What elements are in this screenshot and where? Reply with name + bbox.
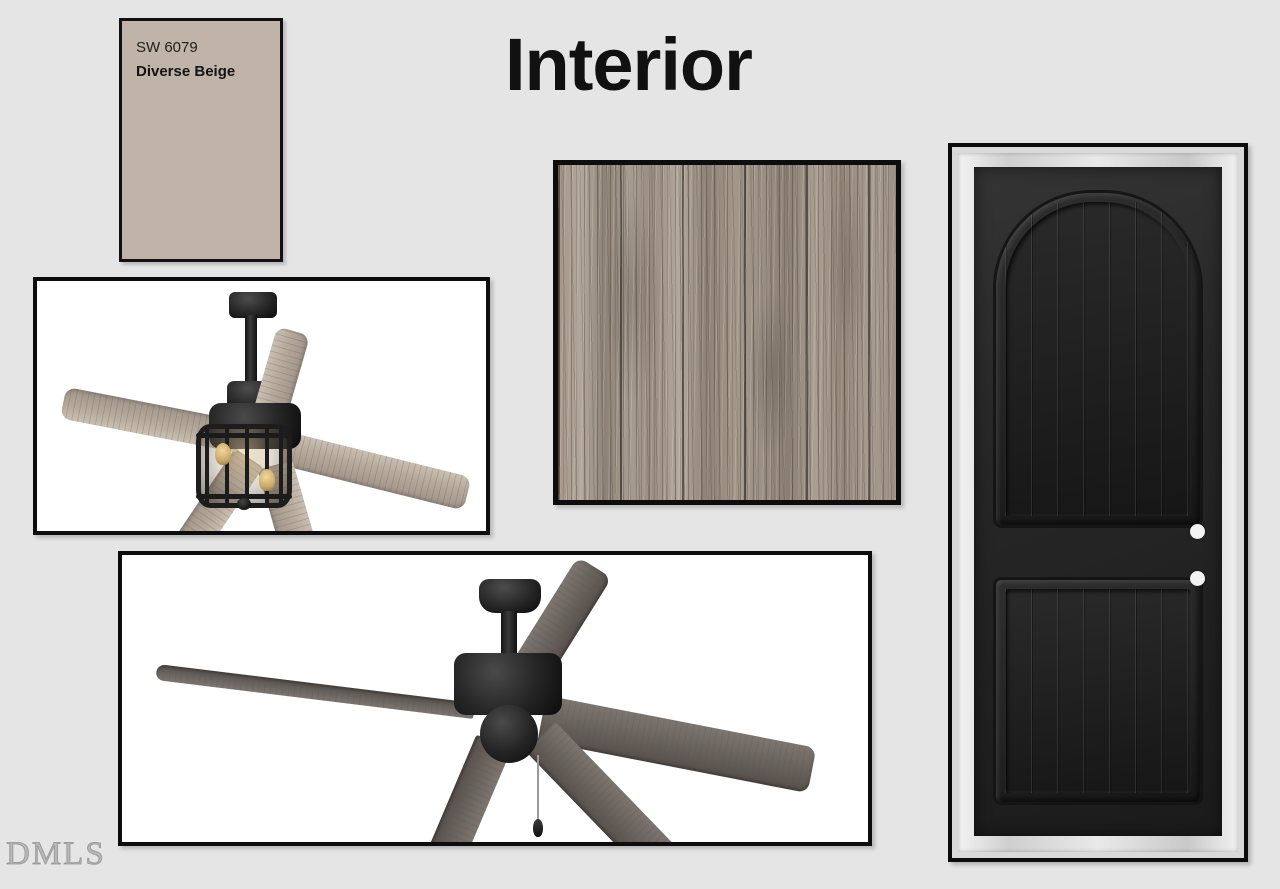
cage-finial-icon [237, 498, 251, 510]
cage-bar-icon [279, 426, 283, 506]
fan-switch-housing-icon [480, 705, 538, 763]
cage-ring-icon [196, 433, 292, 438]
light-bulb-icon [215, 443, 231, 465]
door-deadbolt-bore-icon [1190, 524, 1205, 539]
paint-code-label: SW 6079 [136, 39, 198, 56]
door-bead-lines-icon [1005, 202, 1191, 516]
wood-flooring-sample-photo [553, 160, 901, 505]
door-panel-lower-inset [1005, 589, 1191, 793]
fan-downrod-icon [245, 315, 257, 387]
watermark: DMLS [6, 836, 106, 873]
page-title: Interior [505, 28, 752, 102]
cage-bar-icon [225, 426, 229, 506]
door-bead-lines-icon [1005, 589, 1191, 793]
door-slab [974, 167, 1222, 836]
cage-bar-icon [205, 426, 209, 506]
cage-bar-icon [265, 426, 269, 506]
fan-canopy-icon [479, 579, 541, 613]
door-panel-upper [996, 193, 1200, 525]
fan-blade [279, 432, 472, 511]
fan-photo-backdrop [122, 555, 868, 842]
entry-door-photo [948, 143, 1248, 862]
cage-bar-icon [245, 426, 249, 506]
door-panel-upper-inset [1005, 202, 1191, 516]
paint-name-label: Diverse Beige [136, 63, 235, 80]
door-jamb [958, 153, 1238, 852]
fan-blade [155, 664, 475, 719]
fan-downrod-icon [501, 611, 517, 657]
ceiling-fan-pull-chain-photo [118, 551, 872, 846]
interior-selection-board: Interior SW 6079 Diverse Beige [0, 0, 1280, 889]
door-handle-bore-icon [1190, 571, 1205, 586]
light-bulb-icon [259, 469, 275, 491]
fan-light-cage-icon [196, 424, 292, 508]
blade-grain-icon [279, 432, 472, 511]
wood-grain-texture [558, 165, 896, 500]
blade-grain-icon [155, 664, 475, 719]
fan-pull-chain[interactable] [537, 755, 539, 823]
paint-swatch: SW 6079 Diverse Beige [119, 18, 283, 262]
pull-chain-knob-icon[interactable] [533, 819, 543, 837]
door-panel-lower [996, 580, 1200, 802]
